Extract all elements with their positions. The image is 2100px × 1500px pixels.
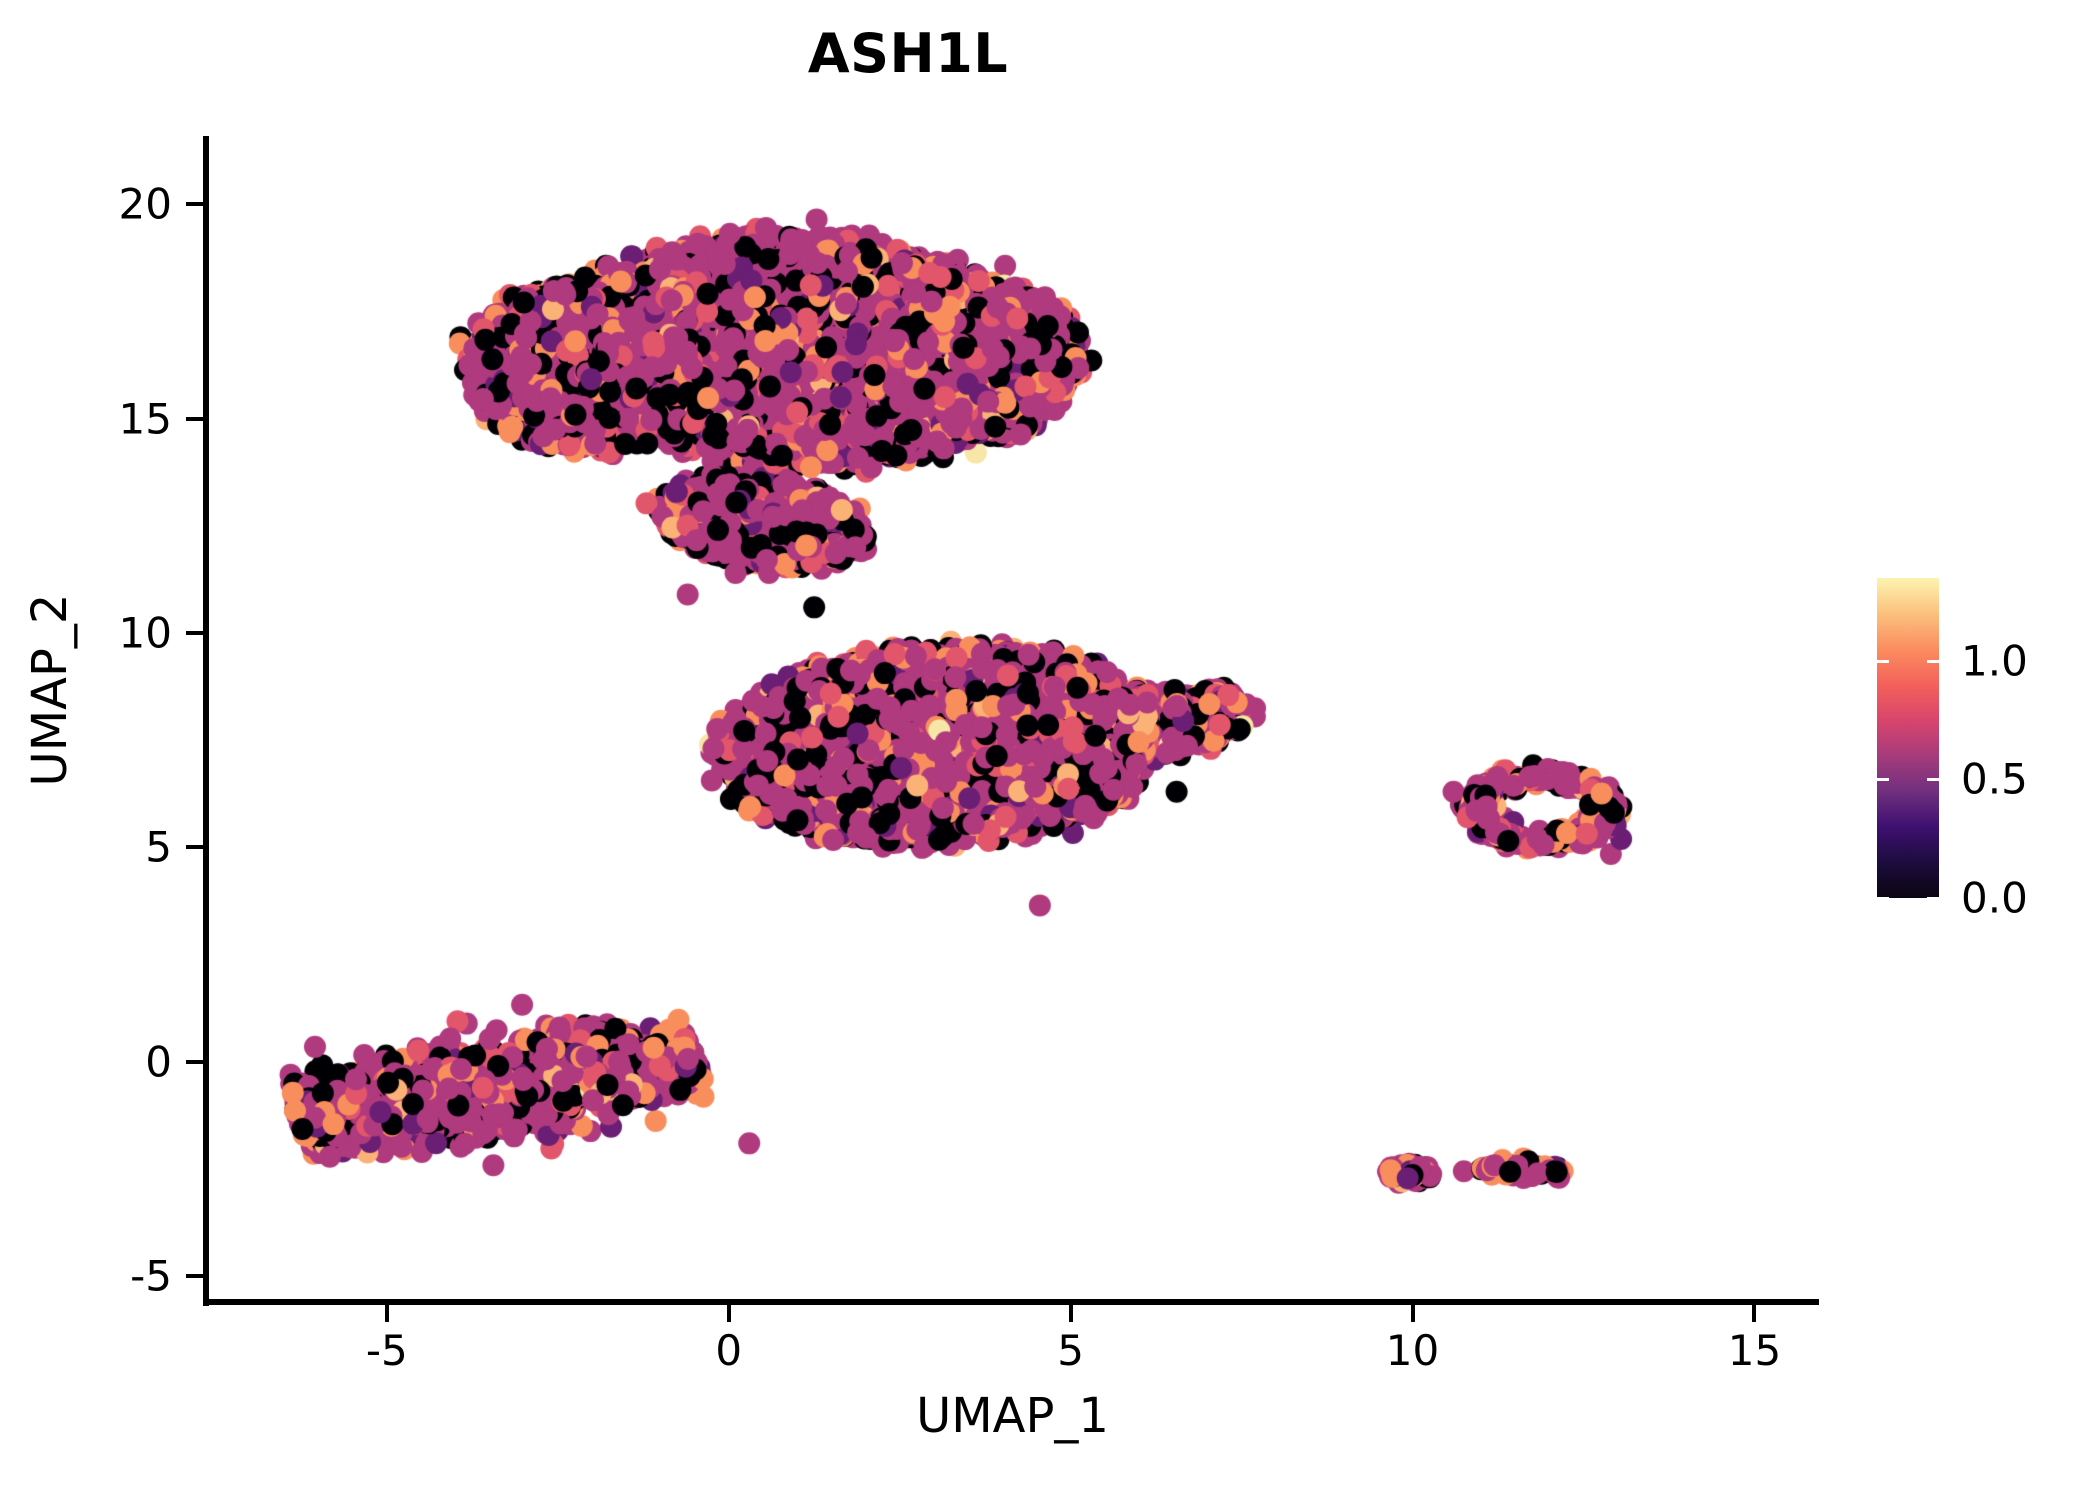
x-tick-label: 15 [1728, 1326, 1781, 1375]
plot-area [209, 140, 1816, 1302]
y-tick-label: -5 [130, 1252, 172, 1301]
x-tick-label: -5 [366, 1326, 408, 1375]
colorbar-tick-mark [1877, 660, 1889, 663]
colorbar-tick-mark [1927, 778, 1939, 781]
x-tick-label: 5 [1057, 1326, 1084, 1375]
page-title: ASH1L [0, 22, 1816, 85]
x-axis-label: UMAP_1 [209, 1388, 1816, 1444]
x-tick-label: 10 [1386, 1326, 1439, 1375]
colorbar-tick-mark [1877, 778, 1889, 781]
y-tick-mark [186, 845, 203, 849]
x-tick-mark [1411, 1305, 1415, 1322]
umap-feature-plot: ASH1L -5051015 -505101520 UMAP_1 UMAP_2 … [0, 0, 2100, 1500]
x-tick-mark [385, 1305, 389, 1322]
colorbar-tick-label: 0.5 [1961, 755, 2028, 804]
colorbar-tick-label: 1.0 [1961, 636, 2028, 685]
colorbar-tick-mark [1877, 897, 1889, 900]
x-tick-mark [727, 1305, 731, 1322]
y-tick-mark [186, 631, 203, 635]
y-tick-label: 10 [119, 609, 172, 658]
colorbar-tick-mark [1927, 660, 1939, 663]
y-tick-mark [186, 202, 203, 206]
y-tick-mark [186, 1060, 203, 1064]
colorbar-gradient [1877, 578, 1939, 898]
y-axis-label: UMAP_2 [22, 110, 78, 1270]
colorbar-tick-mark [1927, 897, 1939, 900]
y-tick-label: 5 [145, 823, 172, 872]
x-tick-mark [1752, 1305, 1756, 1322]
scatter-canvas [209, 140, 1816, 1302]
x-tick-label: 0 [715, 1326, 742, 1375]
x-tick-mark [1069, 1305, 1073, 1322]
y-axis-spine [203, 136, 209, 1306]
x-axis-spine [203, 1299, 1819, 1305]
y-tick-mark [186, 417, 203, 421]
y-tick-label: 15 [119, 394, 172, 443]
y-tick-label: 20 [119, 180, 172, 229]
colorbar: 0.00.51.0 [1877, 578, 2097, 908]
colorbar-tick-label: 0.0 [1961, 874, 2028, 923]
y-tick-mark [186, 1274, 203, 1278]
y-tick-label: 0 [145, 1037, 172, 1086]
